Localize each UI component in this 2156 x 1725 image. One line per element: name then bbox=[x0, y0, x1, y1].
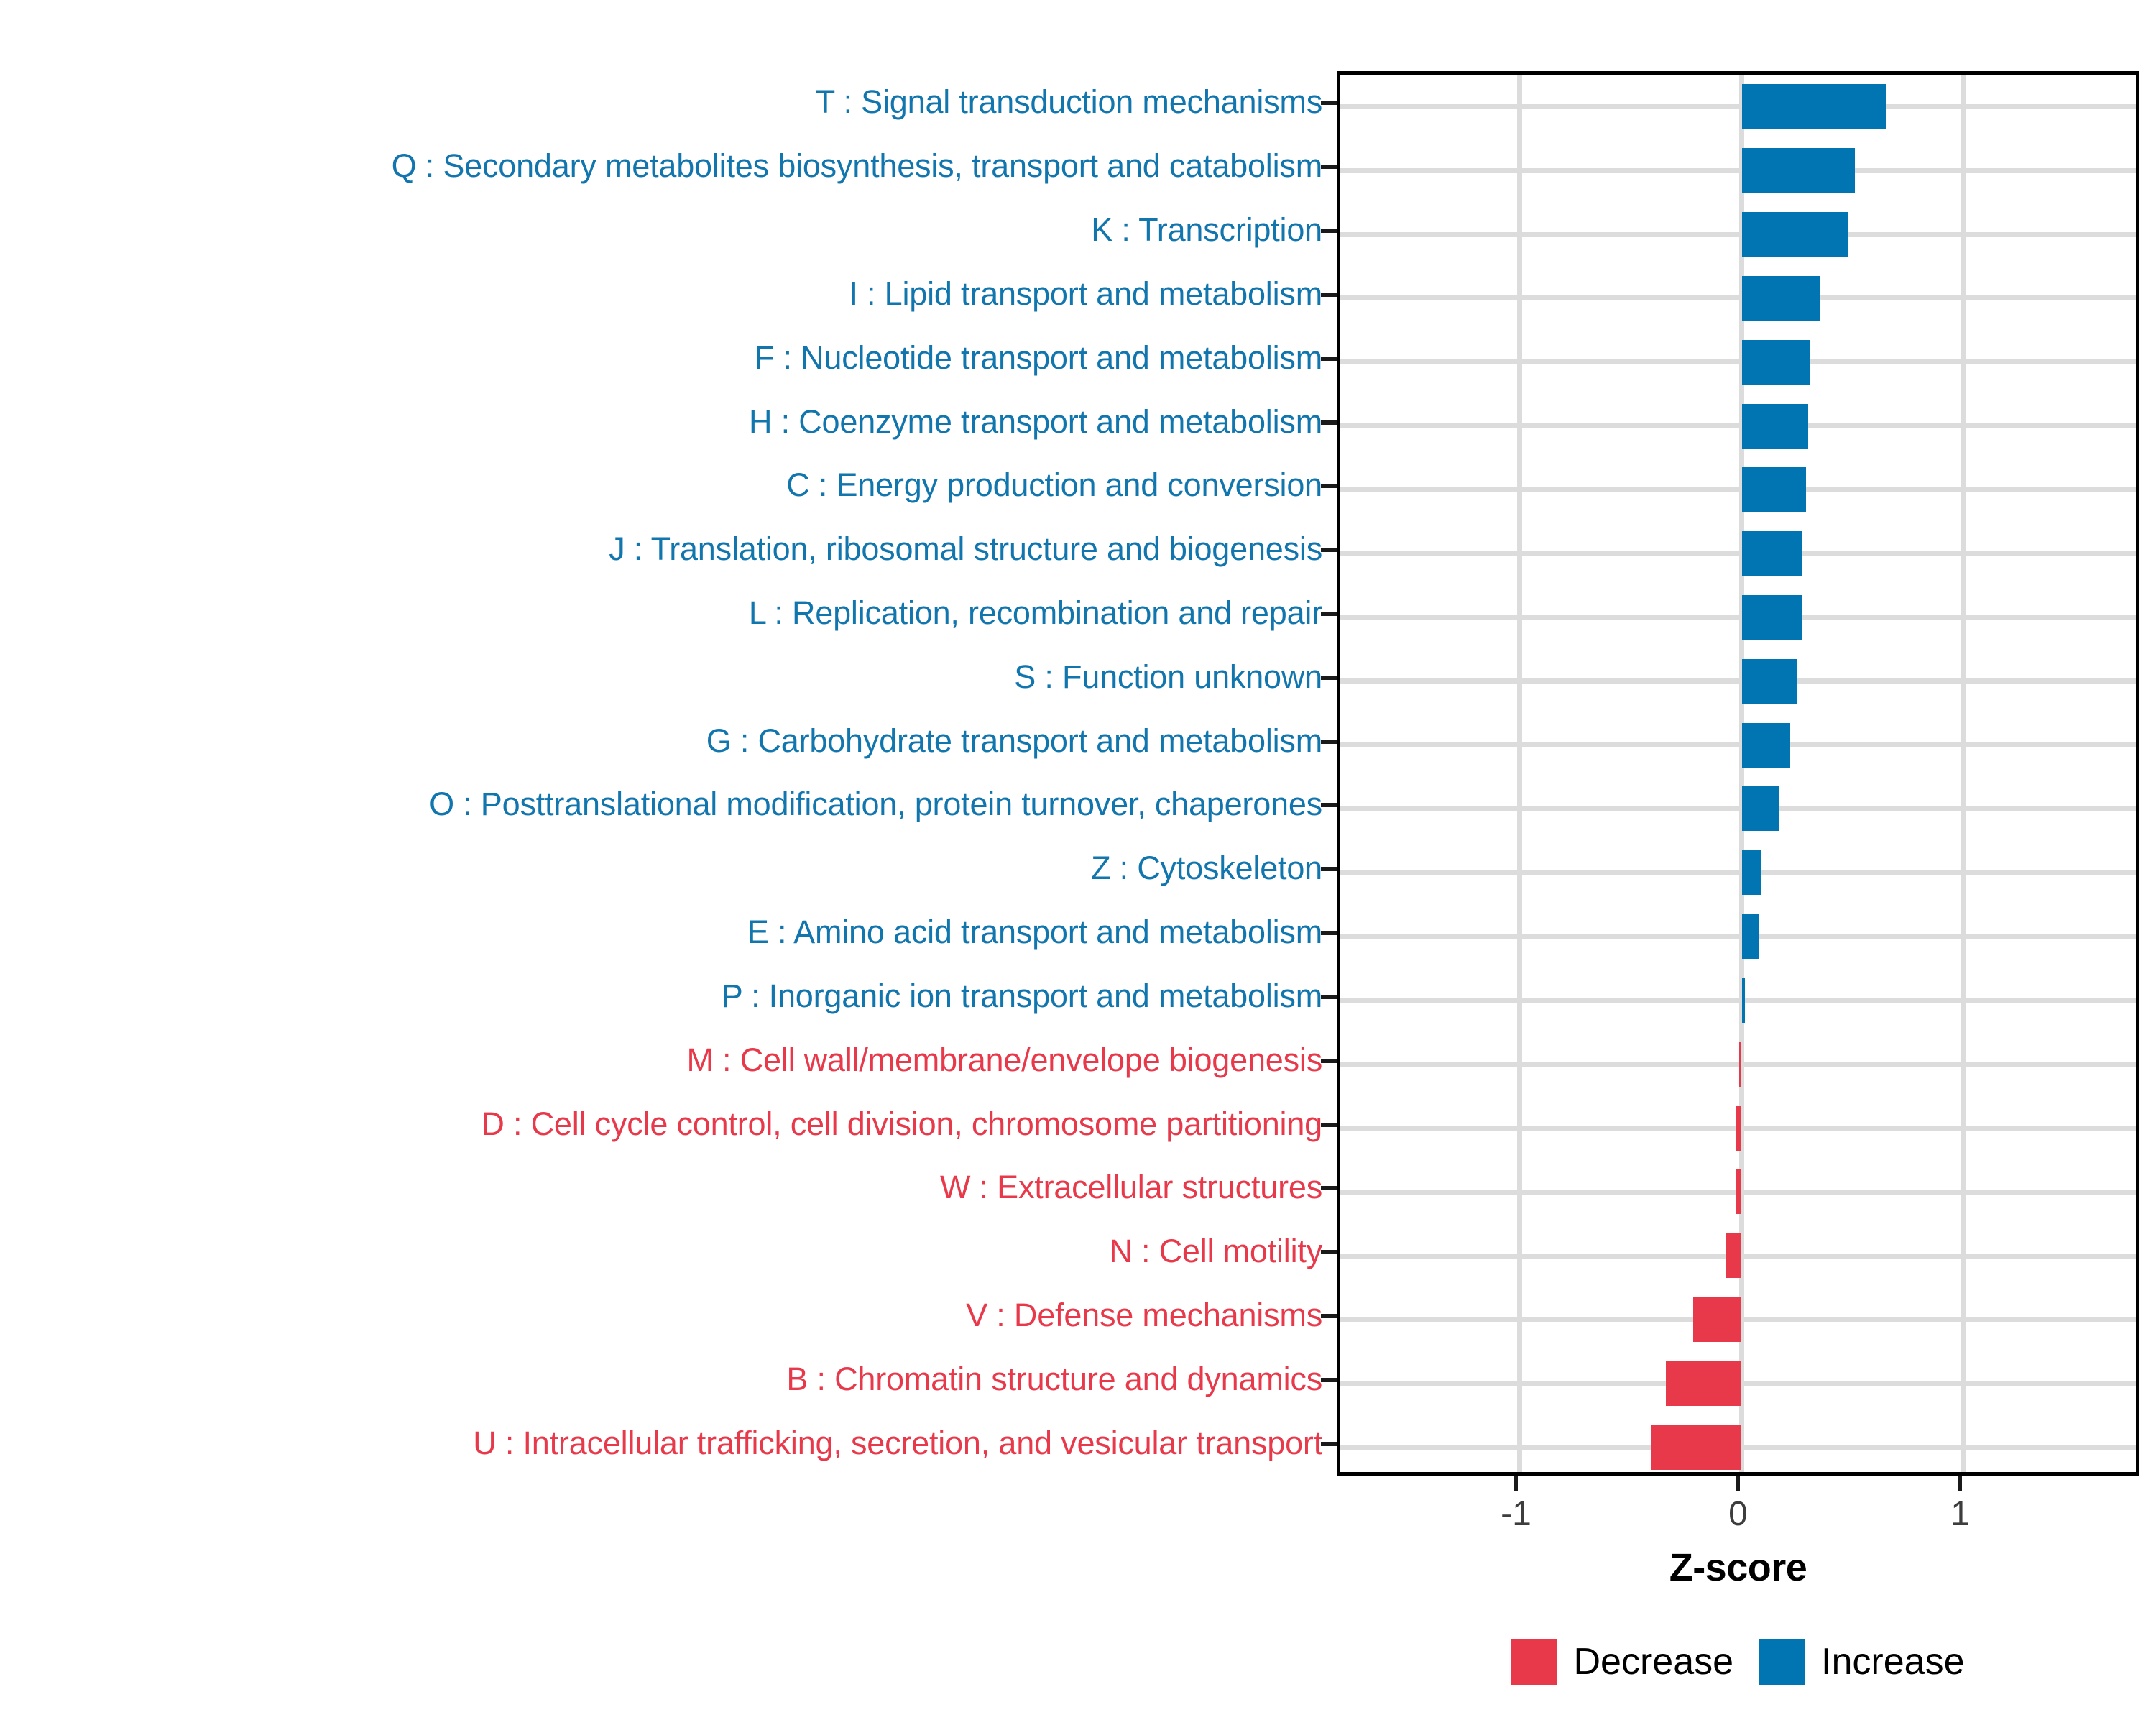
category-tick-mark bbox=[1321, 612, 1337, 616]
category-gridline bbox=[1340, 487, 2136, 492]
bar bbox=[1742, 659, 1797, 704]
category-label: H : Coenzyme transport and metabolism bbox=[0, 405, 1322, 438]
category-tick-mark bbox=[1321, 1378, 1337, 1382]
legend-label: Increase bbox=[1821, 1643, 1964, 1680]
category-gridline bbox=[1340, 1062, 2136, 1067]
category-tick-mark bbox=[1321, 676, 1337, 680]
category-label: D : Cell cycle control, cell division, c… bbox=[0, 1108, 1322, 1140]
legend-item[interactable]: Increase bbox=[1759, 1639, 1964, 1685]
bar bbox=[1726, 1233, 1742, 1278]
category-tick-mark bbox=[1321, 995, 1337, 999]
category-gridline bbox=[1340, 168, 2136, 173]
bar bbox=[1742, 276, 1820, 321]
category-label: M : Cell wall/membrane/envelope biogenes… bbox=[0, 1044, 1322, 1076]
bar bbox=[1739, 1042, 1741, 1087]
category-label: U : Intracellular trafficking, secretion… bbox=[0, 1427, 1322, 1459]
category-label: T : Signal transduction mechanisms bbox=[0, 86, 1322, 118]
bar bbox=[1742, 404, 1809, 448]
x-gridline bbox=[1961, 75, 1966, 1472]
category-tick-mark bbox=[1321, 229, 1337, 233]
category-tick-mark bbox=[1321, 867, 1337, 871]
bar bbox=[1693, 1297, 1742, 1342]
chart-legend: DecreaseIncrease bbox=[1337, 1639, 2139, 1685]
plot-area bbox=[1340, 75, 2136, 1472]
category-gridline bbox=[1340, 359, 2136, 364]
legend-label: Decrease bbox=[1573, 1643, 1733, 1680]
category-gridline bbox=[1340, 104, 2136, 109]
category-tick-mark bbox=[1321, 1059, 1337, 1063]
category-gridline bbox=[1340, 742, 2136, 747]
category-label: B : Chromatin structure and dynamics bbox=[0, 1363, 1322, 1395]
category-tick-mark bbox=[1321, 1250, 1337, 1254]
category-label: G : Carbohydrate transport and metabolis… bbox=[0, 724, 1322, 757]
bar bbox=[1736, 1106, 1741, 1151]
category-tick-mark bbox=[1321, 740, 1337, 744]
bar bbox=[1742, 978, 1746, 1023]
category-gridline bbox=[1340, 423, 2136, 428]
category-gridline bbox=[1340, 998, 2136, 1003]
category-gridline bbox=[1340, 295, 2136, 300]
category-label: W : Extracellular structures bbox=[0, 1171, 1322, 1203]
x-tick-label: 0 bbox=[1674, 1494, 1803, 1534]
category-label: Z : Cytoskeleton bbox=[0, 852, 1322, 884]
bar bbox=[1736, 1169, 1742, 1214]
category-label: S : Function unknown bbox=[0, 661, 1322, 693]
category-tick-mark bbox=[1321, 165, 1337, 169]
bar bbox=[1742, 148, 1856, 193]
category-label: I : Lipid transport and metabolism bbox=[0, 277, 1322, 310]
bar bbox=[1666, 1361, 1741, 1406]
bar bbox=[1742, 212, 1848, 257]
category-gridline bbox=[1340, 615, 2136, 620]
legend-swatch-icon bbox=[1759, 1639, 1805, 1685]
plot-panel bbox=[1337, 71, 2139, 1476]
category-tick-mark bbox=[1321, 420, 1337, 425]
bar bbox=[1742, 340, 1811, 385]
bar bbox=[1651, 1425, 1742, 1470]
category-label: C : Energy production and conversion bbox=[0, 469, 1322, 501]
bar bbox=[1742, 467, 1807, 512]
category-label: O : Posttranslational modification, prot… bbox=[0, 788, 1322, 820]
category-label: Q : Secondary metabolites biosynthesis, … bbox=[0, 149, 1322, 182]
x-axis-title: Z-score bbox=[1337, 1545, 2139, 1590]
category-gridline bbox=[1340, 870, 2136, 875]
category-tick-mark bbox=[1321, 1442, 1337, 1446]
category-label: L : Replication, recombination and repai… bbox=[0, 597, 1322, 629]
category-label: F : Nucleotide transport and metabolism bbox=[0, 341, 1322, 374]
category-tick-mark bbox=[1321, 803, 1337, 807]
chart-figure: T : Signal transduction mechanismsQ : Se… bbox=[0, 0, 2156, 1725]
x-tick-mark bbox=[1514, 1476, 1518, 1491]
bar bbox=[1742, 850, 1762, 895]
category-label: J : Translation, ribosomal structure and… bbox=[0, 533, 1322, 565]
x-tick-label: 1 bbox=[1896, 1494, 2025, 1534]
x-tick-label: -1 bbox=[1451, 1494, 1580, 1534]
bar bbox=[1742, 84, 1886, 129]
bar bbox=[1742, 531, 1802, 576]
legend-item[interactable]: Decrease bbox=[1511, 1639, 1733, 1685]
category-tick-mark bbox=[1321, 101, 1337, 105]
x-gridline bbox=[1517, 75, 1522, 1472]
category-gridline bbox=[1340, 806, 2136, 811]
category-gridline bbox=[1340, 551, 2136, 556]
category-tick-mark bbox=[1321, 293, 1337, 297]
bar bbox=[1742, 595, 1802, 640]
category-tick-mark bbox=[1321, 356, 1337, 361]
category-tick-mark bbox=[1321, 548, 1337, 552]
legend-swatch-icon bbox=[1511, 1639, 1557, 1685]
bar bbox=[1742, 723, 1791, 768]
category-gridline bbox=[1340, 934, 2136, 939]
category-tick-mark bbox=[1321, 1186, 1337, 1190]
category-label: N : Cell motility bbox=[0, 1235, 1322, 1267]
category-label: P : Inorganic ion transport and metaboli… bbox=[0, 980, 1322, 1012]
bar bbox=[1742, 786, 1780, 831]
category-label: K : Transcription bbox=[0, 213, 1322, 246]
category-label: V : Defense mechanisms bbox=[0, 1299, 1322, 1331]
category-tick-mark bbox=[1321, 1314, 1337, 1318]
category-gridline bbox=[1340, 232, 2136, 237]
category-tick-mark bbox=[1321, 931, 1337, 935]
category-label: E : Amino acid transport and metabolism bbox=[0, 916, 1322, 948]
bar bbox=[1742, 914, 1760, 959]
category-tick-mark bbox=[1321, 1123, 1337, 1127]
category-tick-mark bbox=[1321, 484, 1337, 488]
x-tick-mark bbox=[1736, 1476, 1740, 1491]
category-gridline bbox=[1340, 678, 2136, 684]
x-tick-mark bbox=[1958, 1476, 1962, 1491]
category-axis-labels: T : Signal transduction mechanismsQ : Se… bbox=[0, 71, 1322, 1476]
